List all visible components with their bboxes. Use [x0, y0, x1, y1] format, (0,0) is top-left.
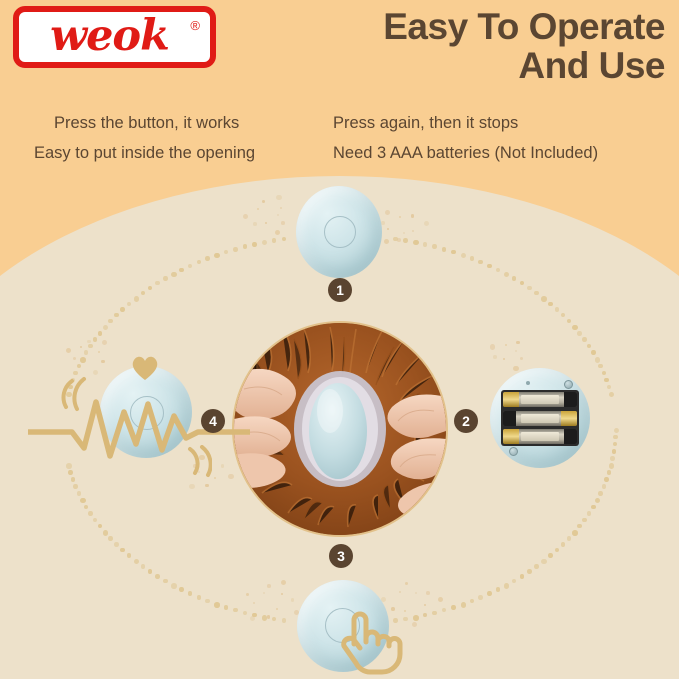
- subtitle-left-bottom: Easy to put inside the opening: [34, 144, 255, 163]
- device-step-1: [296, 186, 382, 278]
- subtitle-right-bottom: Need 3 AAA batteries (Not Included): [333, 144, 598, 163]
- plush-toy-insertion-illustration: [234, 323, 446, 535]
- power-button-ring: [324, 216, 356, 248]
- step-badge-4: 4: [201, 409, 225, 433]
- device-step-2-battery: [490, 368, 590, 468]
- screw-icon: [564, 380, 573, 389]
- registered-trademark-icon: ®: [190, 18, 200, 33]
- center-product-photo: [232, 321, 448, 537]
- infographic-canvas: weok ® Easy To Operate And Use Press the…: [0, 0, 679, 679]
- power-button-ring: [325, 608, 360, 643]
- device-step-3-press: [297, 580, 389, 672]
- subtitle-left-top: Press the button, it works: [54, 114, 239, 133]
- battery-aaa-1: [503, 392, 577, 407]
- brand-logo: weok ®: [13, 6, 216, 68]
- screw-icon: [509, 447, 518, 456]
- page-title: Easy To Operate And Use: [245, 8, 665, 86]
- step-badge-2: 2: [454, 409, 478, 433]
- step-badge-1: 1: [328, 278, 352, 302]
- battery-tray: [501, 390, 579, 446]
- led-dot-icon: [526, 381, 530, 385]
- subtitle-right-top: Press again, then it stops: [333, 114, 518, 133]
- device-step-4-vibration: [100, 366, 192, 458]
- power-button-ring: [130, 396, 164, 430]
- brand-logo-text: weok: [50, 15, 169, 58]
- step-badge-3: 3: [329, 544, 353, 568]
- battery-aaa-2: [503, 411, 577, 426]
- battery-aaa-3: [503, 429, 577, 444]
- page-title-line-2: And Use: [245, 47, 665, 86]
- page-title-line-1: Easy To Operate: [245, 8, 665, 47]
